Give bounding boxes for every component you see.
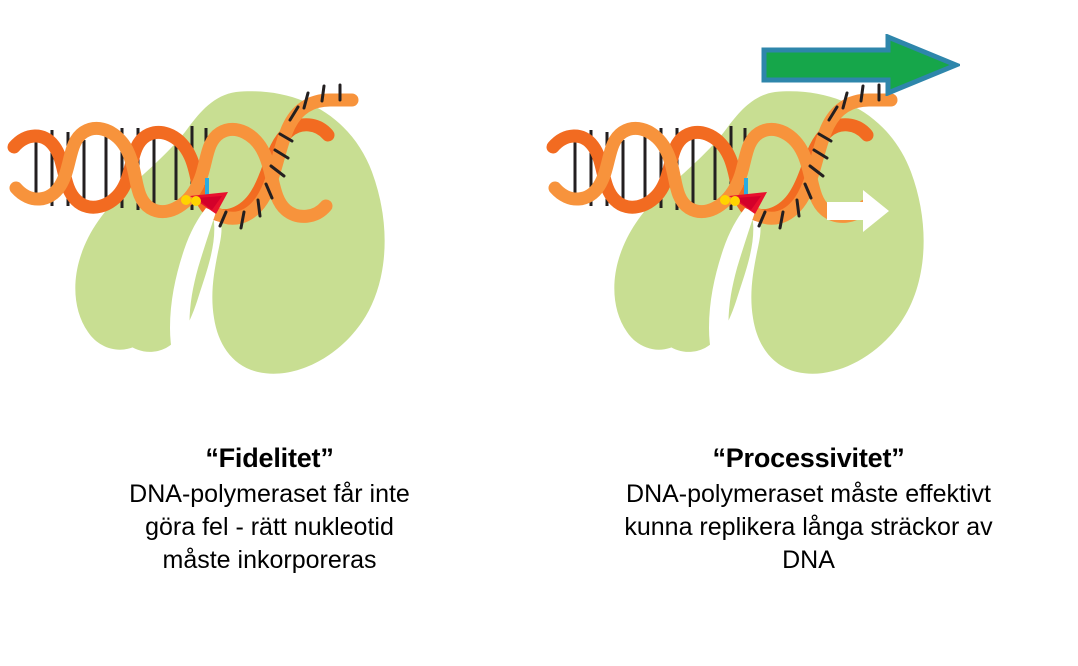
slide-canvas: “Fidelitet” DNA-polymeraset får inte gör… <box>0 0 1078 666</box>
caption-processivity: “Processivitet” DNA-polymeraset måste ef… <box>539 440 1078 577</box>
caption-fidelity: “Fidelitet” DNA-polymeraset får inte gör… <box>0 440 539 577</box>
caption-body-processivity: DNA-polymeraset måste effektivt kunna re… <box>579 478 1039 577</box>
caption-title-fidelity: “Fidelitet” <box>0 440 539 476</box>
dna-polymerase-fidelity-diagram <box>0 0 539 430</box>
panel-processivity: “Processivitet” DNA-polymeraset måste ef… <box>539 0 1078 666</box>
movement-direction-arrow <box>760 34 960 96</box>
panel-fidelity: “Fidelitet” DNA-polymeraset får inte gör… <box>0 0 539 666</box>
caption-body-fidelity: DNA-polymeraset får inte göra fel - rätt… <box>70 478 470 577</box>
caption-title-processivity: “Processivitet” <box>539 440 1078 476</box>
